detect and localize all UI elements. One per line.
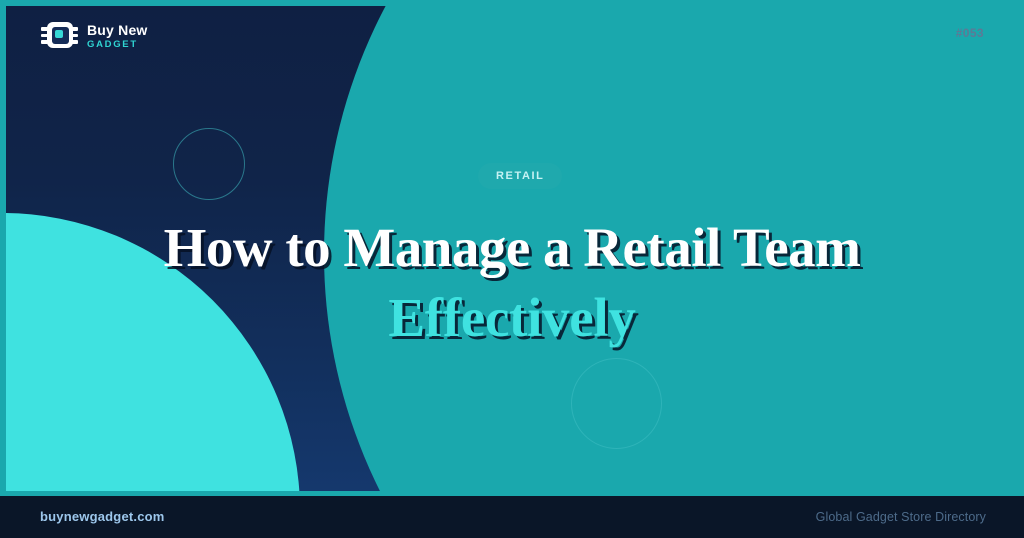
footer-website[interactable]: buynewgadget.com xyxy=(40,509,165,524)
issue-number: #053 xyxy=(956,26,984,40)
chip-icon xyxy=(40,20,78,52)
footer-tagline: Global Gadget Store Directory xyxy=(816,510,986,524)
headline-line-1: How to Manage a Retail Team xyxy=(6,220,1018,275)
hero-canvas: Buy New GADGET #053 RETAIL How to Manage… xyxy=(6,6,1018,492)
brand-name: Buy New xyxy=(87,23,148,37)
brand-logo[interactable]: Buy New GADGET xyxy=(40,20,148,52)
chip-dot xyxy=(55,30,63,38)
brand-logo-text: Buy New GADGET xyxy=(87,23,148,50)
hero-banner: Buy New GADGET #053 RETAIL How to Manage… xyxy=(0,0,1024,538)
footer-bar: buynewgadget.com Global Gadget Store Dir… xyxy=(0,496,1024,538)
decorative-ring-top-left xyxy=(173,128,245,200)
decorative-ring-bottom-center xyxy=(571,358,662,449)
page-title: How to Manage a Retail Team Effectively xyxy=(6,220,1018,345)
headline-line-2: Effectively xyxy=(6,290,1018,345)
category-badge[interactable]: RETAIL xyxy=(478,163,562,189)
brand-subtitle: GADGET xyxy=(87,40,148,50)
